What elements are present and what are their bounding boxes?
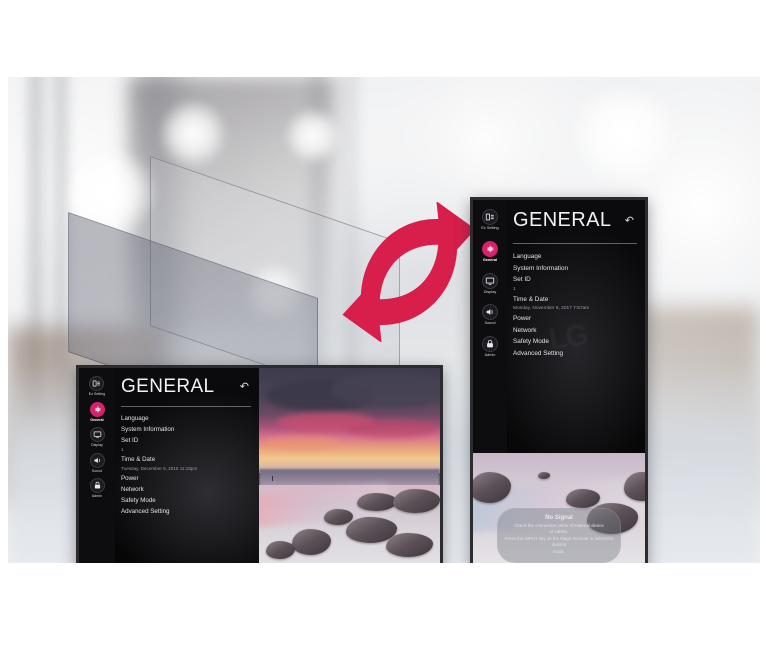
background-ceiling-light [284, 107, 342, 165]
product-scene-photo: Ez Setting General [8, 77, 760, 563]
panel-bezel [76, 365, 443, 563]
screenshot-stage: Ez Setting General [0, 0, 768, 652]
portrait-monitor-panel: LG Ez Setting [470, 197, 648, 563]
rotation-arrows-icon [338, 202, 478, 342]
background-ceiling-light [564, 87, 684, 182]
background-ceiling-light [158, 99, 228, 169]
landscape-monitor-panel: Ez Setting General [76, 365, 443, 563]
panel-bezel [470, 197, 648, 563]
